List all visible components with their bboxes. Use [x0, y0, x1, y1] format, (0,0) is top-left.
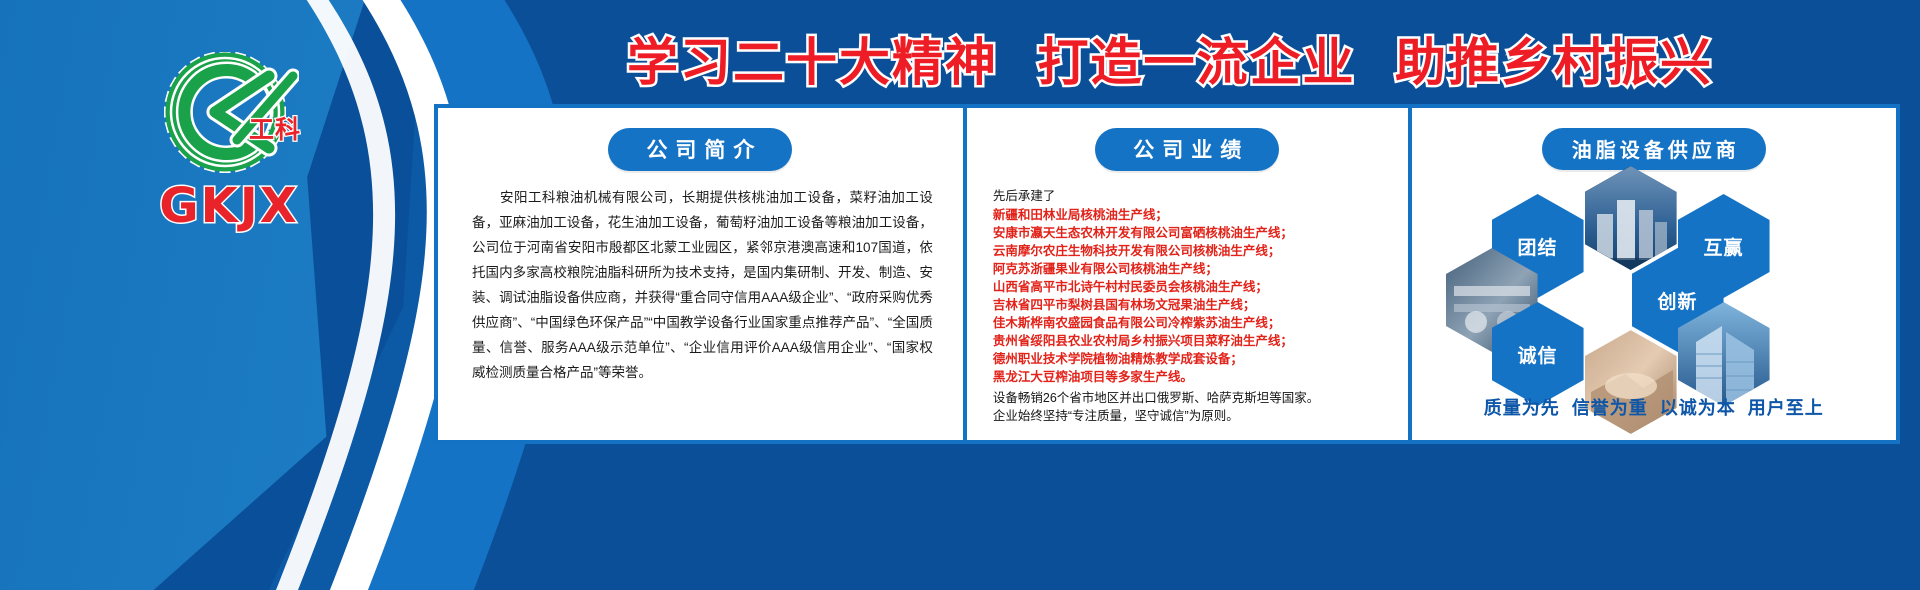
performance-project-item: 安康市瀛天生态农林开发有限公司富硒核桃油生产线； [993, 224, 1408, 242]
performance-project-item: 阿克苏浙疆果业有限公司核桃油生产线； [993, 260, 1408, 278]
performance-footer-line: 企业始终坚持“专注质量，坚守诚信”为原则。 [993, 407, 1408, 425]
performance-project-list: 新疆和田林业局核桃油生产线；安康市瀛天生态农林开发有限公司富硒核桃油生产线；云南… [993, 206, 1408, 386]
page-title: 学习二十大精神 打造一流企业 助推乡村振兴 [440, 22, 1900, 94]
hex-factory-photo [1585, 166, 1677, 270]
panel-company-performance: 公司业绩 先后承建了 新疆和田林业局核桃油生产线；安康市瀛天生态农林开发有限公司… [963, 108, 1408, 440]
logo-latin-text: GKJX [124, 182, 334, 230]
performance-footer-notes: 设备畅销26个省市地区并出口俄罗斯、哈萨克斯坦等国家。企业始终坚持“专注质量，坚… [993, 389, 1408, 425]
hex-label-integrity: 诚信 [1518, 341, 1558, 368]
panel-oil-equipment-supplier: 油脂设备供应商 团结 [1408, 108, 1896, 440]
hex-label-innovation: 创新 [1658, 287, 1698, 314]
gear-logo-icon: 工科 [159, 52, 299, 180]
performance-project-item: 黑龙江大豆榨油项目等多家生产线。 [993, 368, 1408, 386]
content-board: 公司简介 安阳工科粮油机械有限公司，长期提供核桃油加工设备，菜籽油加工设备，亚麻… [434, 104, 1900, 444]
hex-label-unity: 团结 [1518, 233, 1558, 260]
performance-project-item: 吉林省四平市梨树县国有林场文冠果油生产线； [993, 296, 1408, 314]
hex-label-mutual-win: 互赢 [1704, 233, 1744, 260]
panel-company-profile: 公司简介 安阳工科粮油机械有限公司，长期提供核桃油加工设备，菜籽油加工设备，亚麻… [438, 108, 963, 440]
performance-project-item: 佳木斯桦南农盛园食品有限公司冷榨紫苏油生产线； [993, 314, 1408, 332]
hexagon-cluster: 团结 [1412, 176, 1896, 386]
performance-project-item: 贵州省绥阳县农业农村局乡村振兴项目菜籽油生产线； [993, 332, 1408, 350]
performance-project-item: 山西省高平市北诗午村村民委员会核桃油生产线； [993, 278, 1408, 296]
company-profile-body: 安阳工科粮油机械有限公司，长期提供核桃油加工设备，菜籽油加工设备，亚麻油加工设备… [472, 185, 933, 385]
performance-project-item: 新疆和田林业局核桃油生产线； [993, 206, 1408, 224]
panel-title-oil-equipment-supplier: 油脂设备供应商 [1542, 128, 1766, 170]
performance-project-item: 德州职业技术学院植物油精炼教学成套设备； [993, 350, 1408, 368]
logo-chinese-text: 工科 [249, 110, 301, 146]
poster-canvas: 工科 GKJX 学习二十大精神 打造一流企业 助推乡村振兴 公司简介 安阳工科粮… [0, 0, 1920, 590]
company-logo: 工科 GKJX [124, 52, 334, 232]
performance-lead-text: 先后承建了 [993, 187, 1408, 205]
supplier-slogan: 质量为先 信誉为重 以诚为本 用户至上 [1412, 394, 1896, 420]
performance-footer-line: 设备畅销26个省市地区并出口俄罗斯、哈萨克斯坦等国家。 [993, 389, 1408, 407]
performance-project-item: 云南摩尔农庄生物科技开发有限公司核桃油生产线； [993, 242, 1408, 260]
panel-title-company-performance: 公司业绩 [1095, 128, 1279, 171]
panel-title-company-profile: 公司简介 [608, 128, 792, 171]
